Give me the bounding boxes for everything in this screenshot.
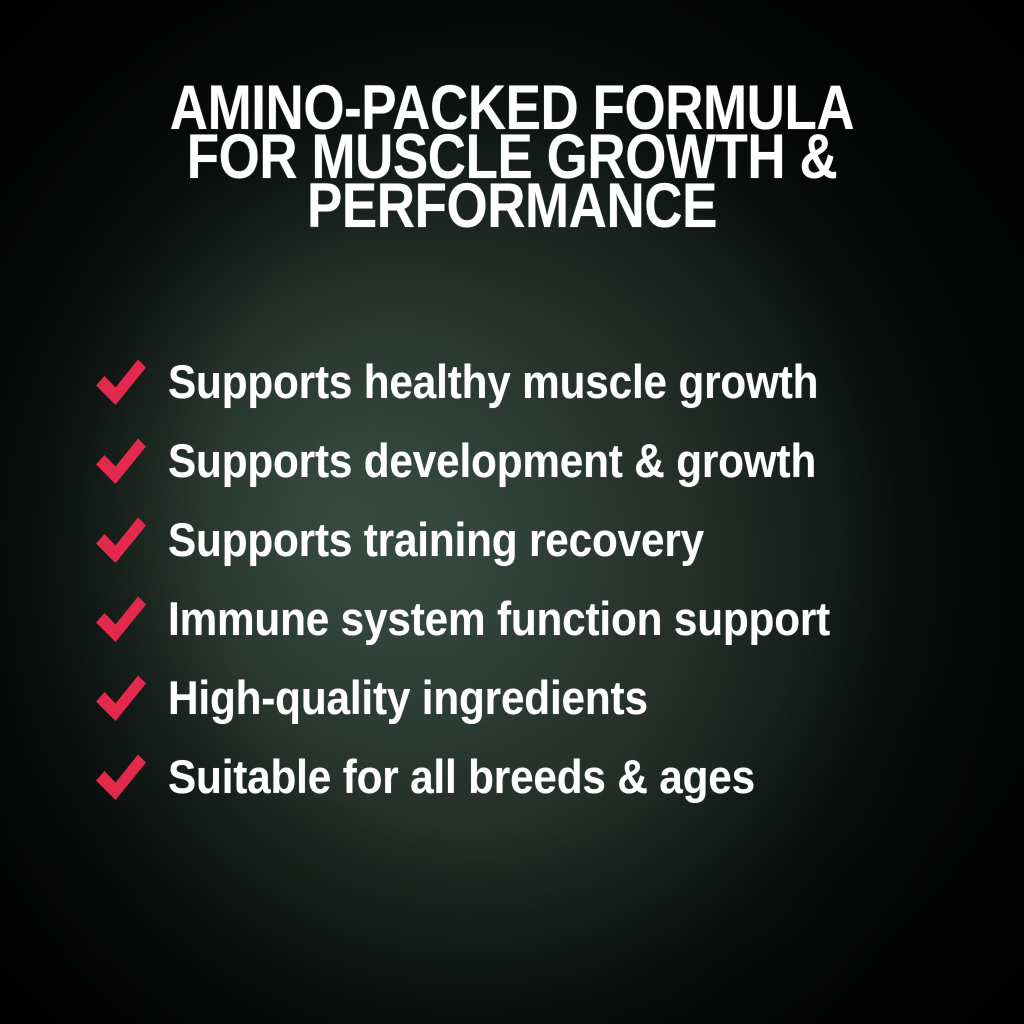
list-item: Immune system function support xyxy=(94,579,954,658)
list-item: High-quality ingredients xyxy=(94,658,954,737)
benefits-list: Supports healthy muscle growth Supports … xyxy=(94,342,954,816)
list-item: Supports development & growth xyxy=(94,421,954,500)
list-item-label: Supports healthy muscle growth xyxy=(168,357,818,407)
list-item: Suitable for all breeds & ages xyxy=(94,737,954,816)
check-icon xyxy=(94,435,168,487)
list-item: Supports healthy muscle growth xyxy=(94,342,954,421)
check-icon xyxy=(94,593,168,645)
list-item-label: Supports development & growth xyxy=(168,436,816,486)
product-benefits-graphic: AMINO-PACKED FORMULA FOR MUSCLE GROWTH &… xyxy=(0,0,1024,1024)
check-icon xyxy=(94,672,168,724)
list-item-label: Immune system function support xyxy=(168,594,830,644)
check-icon xyxy=(94,514,168,566)
list-item-label: Supports training recovery xyxy=(168,515,704,565)
check-icon xyxy=(94,356,168,408)
list-item-label: Suitable for all breeds & ages xyxy=(168,752,755,802)
list-item-label: High-quality ingredients xyxy=(168,673,648,723)
page-title-line-3: PERFORMANCE xyxy=(82,182,942,231)
check-icon xyxy=(94,751,168,803)
page-title: AMINO-PACKED FORMULA FOR MUSCLE GROWTH &… xyxy=(0,84,1024,231)
list-item: Supports training recovery xyxy=(94,500,954,579)
